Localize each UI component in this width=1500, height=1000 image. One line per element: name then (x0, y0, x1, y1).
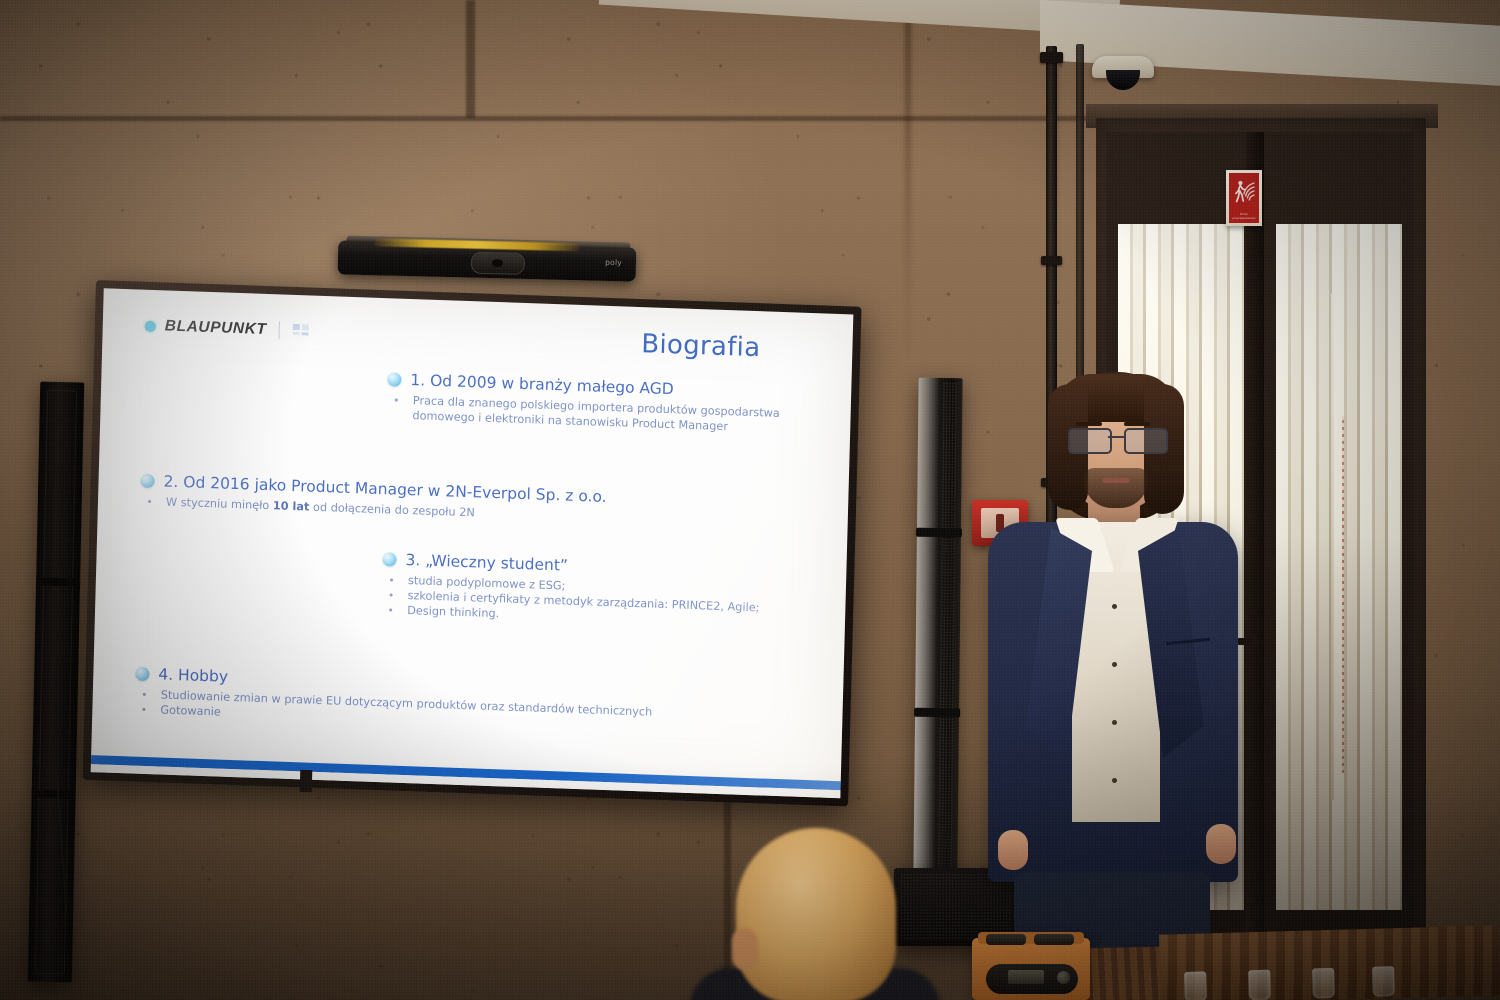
video-conference-bar[interactable]: poly (338, 234, 637, 283)
block-3-bullets: studia podyplomowe z ESG; szkolenia i ce… (381, 572, 760, 630)
radio-front-panel (986, 964, 1078, 994)
flame-icon (1241, 181, 1255, 203)
slide-block-3: 3. „Wieczny student” studia podyplomowe … (381, 550, 761, 630)
brand-logo: BLAUPUNKT (145, 317, 310, 341)
slide-block-2: 2. Od 2016 jako Product Manager w 2N-Eve… (140, 472, 607, 525)
tv-screen[interactable]: BLAUPUNKT Biografia 1. Od 2009 w branży … (91, 288, 854, 798)
door-leaf-right[interactable] (1264, 132, 1414, 936)
speaker-joint (914, 708, 960, 717)
presentation-room-photo: Drzwi przeciwpożarowe BLAUPUNKT (0, 0, 1500, 1000)
slide-title: Biografia (641, 329, 761, 363)
shirt-button (1112, 720, 1117, 725)
slide-block-1: 1. Od 2009 w branży małego AGD Praca dla… (386, 370, 813, 437)
presenter (960, 372, 1260, 1000)
speaker-right (913, 378, 962, 878)
camera-lens-icon (471, 252, 526, 275)
brand-name: BLAUPUNKT (165, 317, 267, 339)
shirt-button (1112, 778, 1117, 783)
slide-block-4: 4. Hobby Studiowanie zmian w prawie EU d… (134, 665, 653, 735)
hand-right (1206, 824, 1236, 864)
hand-left (998, 830, 1028, 870)
blind-shading (1276, 224, 1402, 910)
video-bar-brand-label: poly (605, 258, 622, 267)
glasses-lens-right (1124, 428, 1168, 454)
radio-knob[interactable] (1057, 971, 1070, 984)
drinking-glass (1372, 966, 1395, 997)
wall-seam (0, 116, 1100, 121)
exit-sign-text: Drzwi przeciwpożarowe (1231, 213, 1257, 220)
dome-camera-lens (1106, 70, 1140, 90)
drinking-glass (1184, 971, 1207, 1000)
radio-display (1008, 970, 1044, 984)
drinking-glass (1312, 968, 1335, 999)
glasses-bridge (1108, 436, 1124, 438)
logo-divider (278, 321, 279, 339)
pipe-clamp (1040, 52, 1063, 63)
dome-camera (1092, 56, 1154, 90)
door-glass-right (1276, 224, 1402, 910)
shirt-button (1112, 604, 1117, 609)
bullet-sphere-icon (140, 474, 154, 488)
speaker-joint (916, 528, 962, 537)
drinking-glass (1248, 970, 1271, 1000)
presentation-slide: BLAUPUNKT Biografia 1. Od 2009 w branży … (91, 288, 854, 798)
fire-exit-sign-field: Drzwi przeciwpożarowe (1229, 173, 1259, 223)
shirt-button (1112, 662, 1117, 667)
wall-seam (466, 0, 475, 118)
speaker-joint (32, 790, 76, 799)
audience-member-ear (732, 928, 758, 970)
glasses-lens-left (1068, 428, 1112, 454)
audience-member-head (736, 828, 896, 1000)
radio-top-button[interactable] (986, 934, 1026, 945)
radio-top-button[interactable] (1034, 934, 1074, 945)
speaker-joint (36, 578, 80, 587)
bullet-sphere-icon (135, 667, 149, 681)
blaupunkt-dot-icon (145, 320, 156, 331)
glasses (1068, 428, 1166, 450)
eyebrow-left (1076, 422, 1102, 426)
eyebrow-right (1124, 422, 1150, 426)
fire-exit-sign: Drzwi przeciwpożarowe (1226, 170, 1262, 226)
bullet-sphere-icon (387, 372, 401, 386)
tv-mount (300, 770, 313, 792)
bullet-sphere-icon (382, 552, 396, 566)
table (1159, 925, 1500, 1000)
wall-mounted-tv[interactable]: BLAUPUNKT Biografia 1. Od 2009 w branży … (82, 280, 861, 807)
product-radio[interactable] (972, 938, 1090, 1000)
wall-stain (905, 0, 911, 360)
partner-logo-icon (291, 323, 309, 340)
pipe-clamp (1041, 256, 1062, 265)
emphasis: 10 lat (273, 499, 310, 513)
mouth (1102, 478, 1130, 483)
